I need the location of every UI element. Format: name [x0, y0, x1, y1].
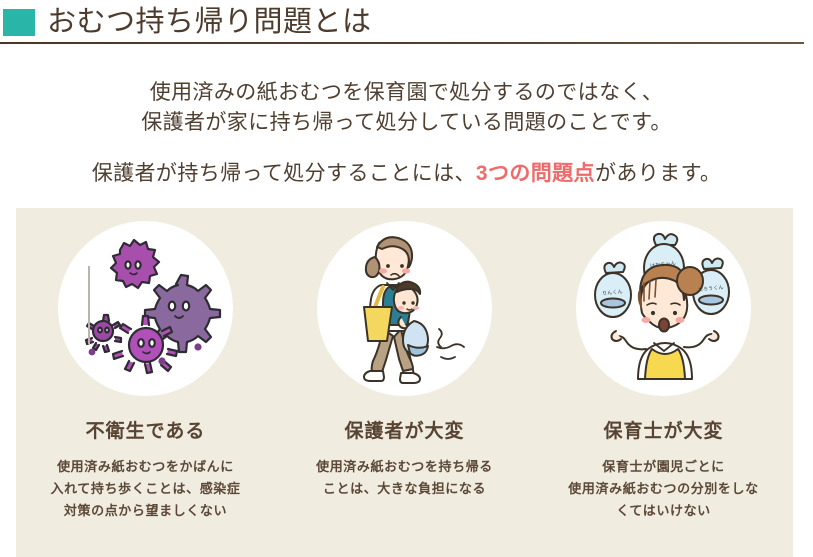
body-line: 使用済み紙おむつを持ち帰る — [316, 456, 493, 478]
body-line: 使用済み紙おむつの分別をしな — [568, 478, 758, 500]
body-line: 保育士が園児ごとに — [568, 456, 758, 478]
lead-text-after: があります。 — [595, 162, 721, 185]
body-line: ことは、大きな負担になる — [316, 478, 493, 500]
column-body-teacher: 保育士が園児ごとに 使用済み紙おむつの分別をしな くてはいけない — [568, 456, 758, 522]
body-line: 使用済み紙おむつをかばんに — [50, 456, 240, 478]
germs-illustration — [58, 221, 233, 396]
intro-line-1: 使用済みの紙おむつを保育園で処分するのではなく、 — [0, 78, 813, 108]
problem-column-parent: 保護者が大変 使用済み紙おむつを持ち帰る ことは、大きな負担になる — [275, 208, 534, 557]
problem-column-teacher: りんくん はなちゃん たろうくん 保育士が大変 保育士が園児ごとに 使用済み紙お… — [534, 208, 793, 557]
header-marker-icon — [3, 9, 35, 36]
parent-carrying-baby-icon — [317, 221, 492, 396]
parent-carrying-baby-illustration — [317, 221, 492, 396]
body-line: 対策の点から望ましくない — [50, 500, 240, 522]
body-line: 入れて持ち歩くことは、感染症 — [50, 478, 240, 500]
nursery-teacher-sorting-bags-illustration: りんくん はなちゃん たろうくん — [576, 221, 751, 396]
problems-panel: 不衛生である 使用済み紙おむつをかばんに 入れて持ち歩くことは、感染症 対策の点… — [16, 208, 793, 557]
column-heading-teacher: 保育士が大変 — [603, 416, 723, 443]
column-heading-parent: 保護者が大変 — [344, 416, 464, 443]
page-title: おむつ持ち帰り問題とは — [47, 5, 372, 39]
intro-paragraph: 使用済みの紙おむつを保育園で処分するのではなく、 保護者が家に持ち帰って処分して… — [0, 78, 813, 138]
lead-statement: 保護者が持ち帰って処分することには、3つの問題点があります。 — [0, 159, 813, 189]
body-line: くてはいけない — [568, 500, 758, 522]
intro-line-2: 保護者が家に持ち帰って処分している問題のことです。 — [0, 108, 813, 138]
nursery-teacher-icon — [576, 221, 751, 396]
column-heading-hygiene: 不衛生である — [86, 416, 206, 443]
column-body-parent: 使用済み紙おむつを持ち帰る ことは、大きな負担になる — [316, 456, 493, 500]
lead-accent-text: 3つの問題点 — [476, 162, 595, 185]
column-body-hygiene: 使用済み紙おむつをかばんに 入れて持ち歩くことは、感染症 対策の点から望ましくな… — [50, 456, 240, 522]
lead-text-before: 保護者が持ち帰って処分することには、 — [92, 162, 476, 185]
germs-icon — [58, 221, 233, 396]
page-header: おむつ持ち帰り問題とは — [0, 0, 813, 44]
problem-column-hygiene: 不衛生である 使用済み紙おむつをかばんに 入れて持ち歩くことは、感染症 対策の点… — [16, 208, 275, 557]
vertical-rule-decoration — [88, 266, 90, 344]
header-divider — [0, 42, 804, 44]
